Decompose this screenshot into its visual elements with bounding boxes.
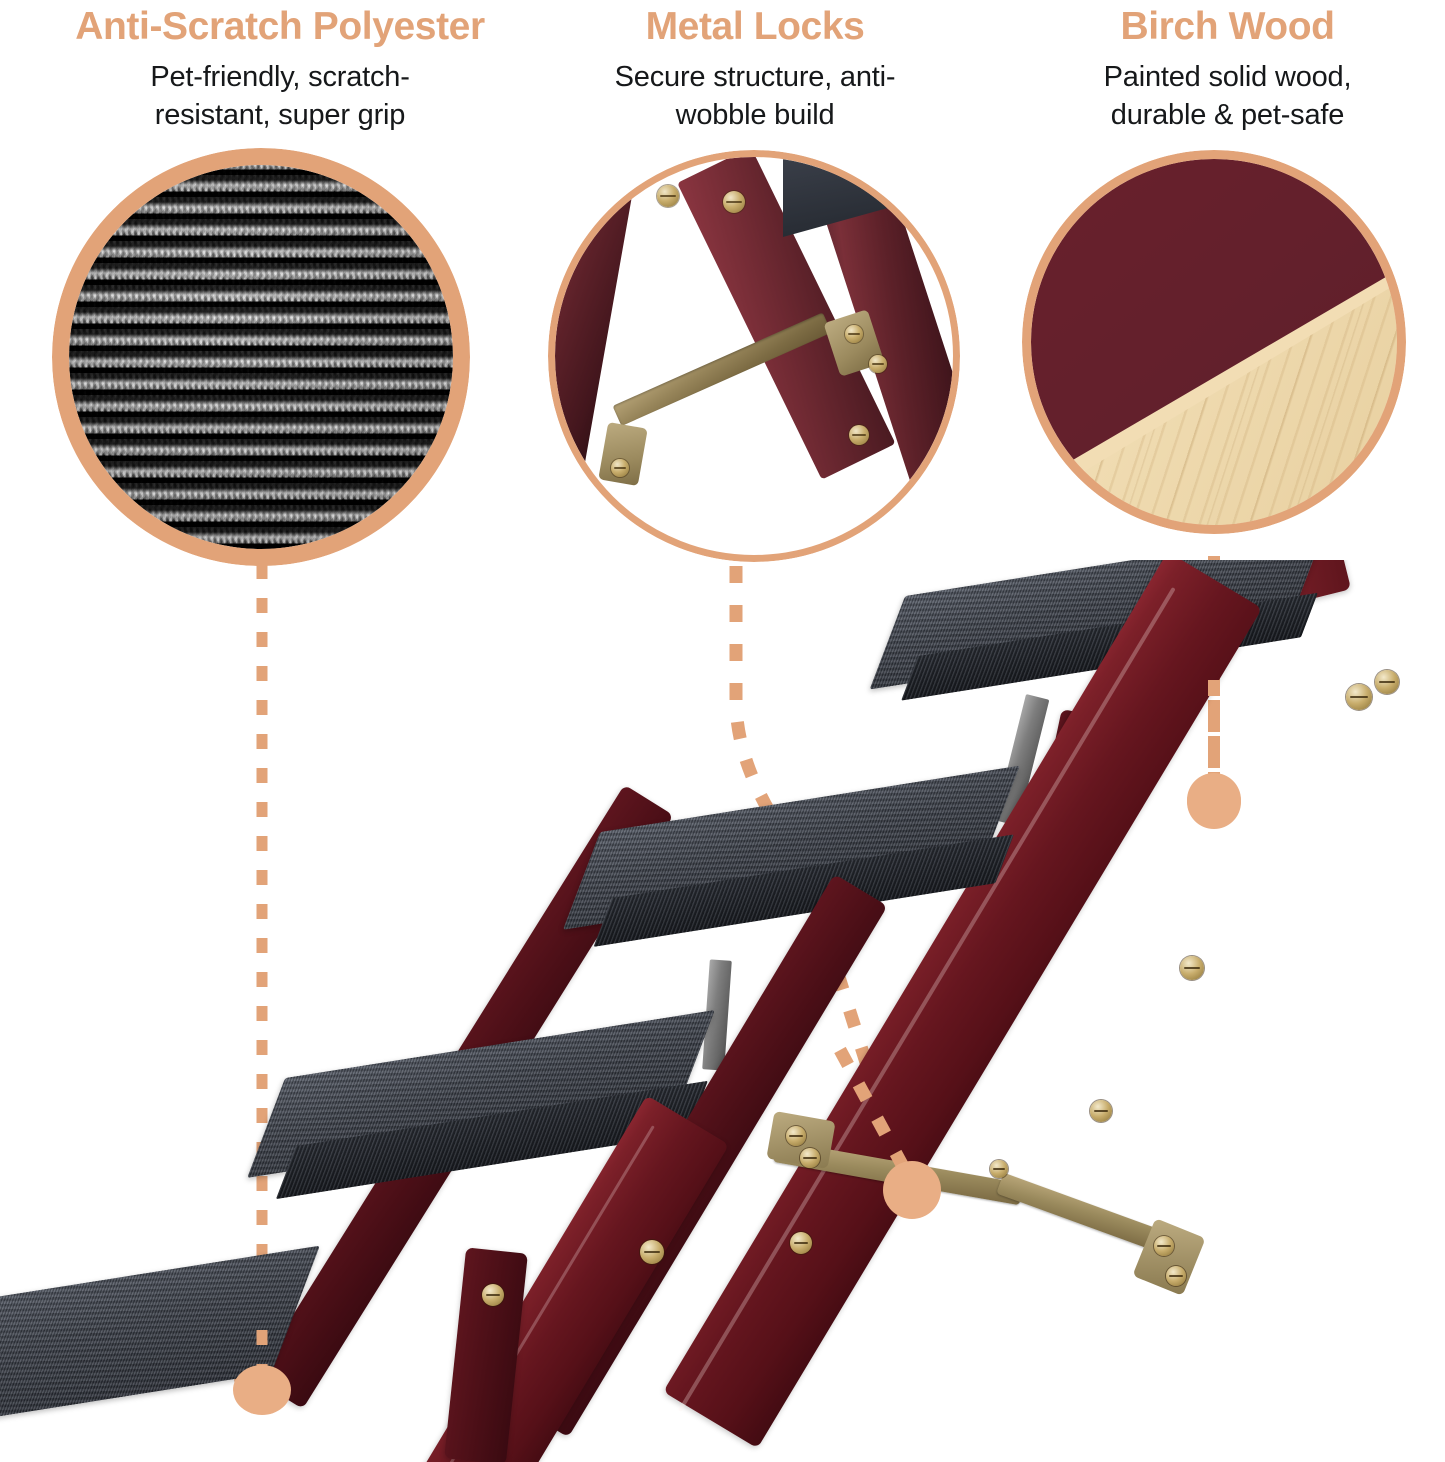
connector-birch-wood-overlay-dot [1187, 775, 1241, 829]
callout-ring-metal-locks [548, 150, 960, 562]
connector-birch-wood-overlay [1150, 680, 1310, 860]
infographic-canvas: Anti-Scratch Polyester Pet-friendly, scr… [0, 0, 1445, 1462]
feature-column-birch-wood: Birch Wood Painted solid wood, durable &… [1010, 0, 1445, 135]
feature-description-metal-locks-line2: wobble build [535, 96, 975, 134]
product-screw-frame-2 [790, 1232, 812, 1254]
feature-description-birch-wood-line2: durable & pet-safe [1010, 96, 1445, 134]
product-lock-screw-3 [1154, 1236, 1174, 1256]
connector-polyester-overlay-dot [233, 1365, 291, 1415]
feature-description-polyester-line2: resistant, super grip [0, 96, 560, 134]
feature-description-birch-wood-line1: Painted solid wood, [1010, 58, 1445, 96]
connector-metal-locks-overlay [820, 1050, 1020, 1250]
product-lock-screw-1 [786, 1126, 806, 1146]
connector-metal-locks-overlay-dot [883, 1161, 941, 1219]
callout-circle-polyester [52, 148, 470, 566]
callout-ring-polyester [52, 148, 470, 566]
feature-description-polyester-line1: Pet-friendly, scratch- [0, 58, 560, 96]
product-screw-rail-2 [1180, 956, 1204, 980]
product-screw-frame-3 [482, 1284, 504, 1306]
callout-circle-metal-locks [548, 150, 960, 562]
feature-description-metal-locks: Secure structure, anti- wobble build [535, 58, 975, 135]
connector-polyester-overlay [200, 1330, 360, 1450]
product-side-rail-front-highlight [678, 587, 1176, 1412]
product-lock-screw-2 [800, 1148, 820, 1168]
product-screw-rail-3 [1090, 1100, 1112, 1122]
product-lock-arm-lower [996, 1173, 1168, 1254]
connector-metal-locks-overlay-line [840, 1050, 906, 1172]
feature-title-polyester: Anti-Scratch Polyester [0, 0, 560, 48]
product-lock-screw-4 [1166, 1266, 1186, 1286]
callout-circle-birch-wood [1022, 150, 1406, 534]
feature-description-birch-wood: Painted solid wood, durable & pet-safe [1010, 58, 1445, 135]
product-screw-frame-4 [1375, 670, 1399, 694]
product-screw-rail-1 [1346, 684, 1372, 710]
product-screw-frame-1 [640, 1240, 664, 1264]
feature-title-birch-wood: Birch Wood [1010, 0, 1445, 48]
callout-ring-birch-wood [1022, 150, 1406, 534]
feature-description-polyester: Pet-friendly, scratch- resistant, super … [0, 58, 560, 135]
feature-column-metal-locks: Metal Locks Secure structure, anti- wobb… [535, 0, 975, 135]
feature-title-metal-locks: Metal Locks [535, 0, 975, 48]
feature-column-polyester: Anti-Scratch Polyester Pet-friendly, scr… [0, 0, 560, 135]
feature-description-metal-locks-line1: Secure structure, anti- [535, 58, 975, 96]
